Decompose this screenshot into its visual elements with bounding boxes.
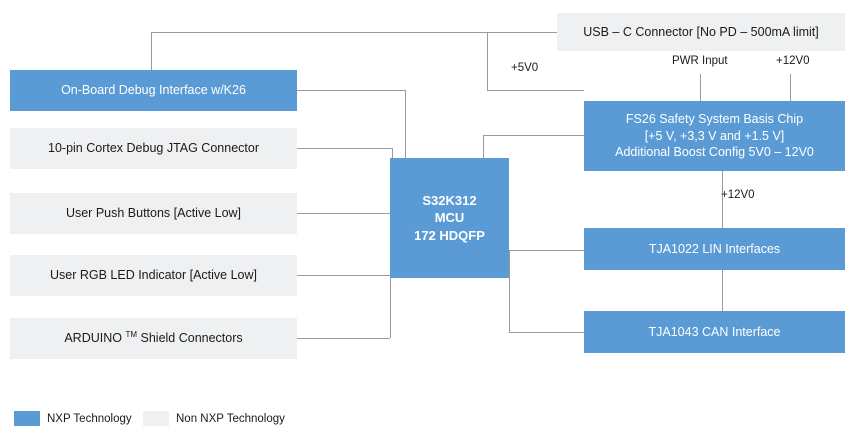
connector-mcu-can-vertical xyxy=(509,250,510,332)
connector-jtag-to-mcu xyxy=(297,148,392,149)
block-mcu-line2: MCU xyxy=(435,209,465,227)
legend-non-nxp-label: Non NXP Technology xyxy=(176,413,285,425)
block-jtag-connector[interactable]: 10-pin Cortex Debug JTAG Connector xyxy=(10,128,297,169)
block-jtag-label: 10-pin Cortex Debug JTAG Connector xyxy=(48,140,259,157)
block-user-rgb-led[interactable]: User RGB LED Indicator [Active Low] xyxy=(10,255,297,296)
block-arduino-label-post: Shield Connectors xyxy=(137,331,243,345)
block-usb-c-connector[interactable]: USB – C Connector [No PD – 500mA limit] xyxy=(557,13,845,51)
block-diagram: +5V0 PWR Input +12V0 +12V0 USB – C Conne… xyxy=(0,0,850,437)
legend-swatch-non-nxp-icon xyxy=(143,411,169,426)
connector-arduino-to-mcu xyxy=(297,338,390,339)
block-usb-c-label: USB – C Connector [No PD – 500mA limit] xyxy=(583,24,819,41)
block-tja1022-lin[interactable]: TJA1022 LIN Interfaces xyxy=(584,228,845,270)
connector-mcu-to-lin xyxy=(509,250,584,251)
block-can-label: TJA1043 CAN Interface xyxy=(648,324,780,341)
edge-label-12v0-top: +12V0 xyxy=(776,55,810,67)
block-user-push-buttons[interactable]: User Push Buttons [Active Low] xyxy=(10,193,297,234)
connector-usb-5v0-vertical xyxy=(487,32,488,90)
block-rgb-led-label: User RGB LED Indicator [Active Low] xyxy=(50,267,257,284)
connector-debug-to-mcu xyxy=(297,90,405,91)
block-debug-interface-label: On-Board Debug Interface w/K26 xyxy=(61,82,246,99)
block-arduino-label-trademark: TM xyxy=(125,330,137,339)
legend-nxp: NXP Technology xyxy=(14,411,132,426)
block-fs26-line3: Additional Boost Config 5V0 – 12V0 xyxy=(615,144,814,161)
block-s32k312-mcu[interactable]: S32K312 MCU 172 HDQFP xyxy=(390,158,509,278)
connector-buttons-to-mcu xyxy=(297,213,390,214)
legend-swatch-nxp-icon xyxy=(14,411,40,426)
legend-non-nxp: Non NXP Technology xyxy=(143,411,285,426)
block-fs26-sbc[interactable]: FS26 Safety System Basis Chip [+5 V, +3,… xyxy=(584,101,845,171)
connector-pwr-input-stub xyxy=(700,74,701,101)
block-fs26-line1: FS26 Safety System Basis Chip xyxy=(626,111,803,128)
legend-nxp-label: NXP Technology xyxy=(47,413,132,425)
connector-led-to-mcu xyxy=(297,275,390,276)
block-arduino-label-pre: ARDUINO xyxy=(64,331,125,345)
block-tja1043-can[interactable]: TJA1043 CAN Interface xyxy=(584,311,845,353)
edge-label-5v0: +5V0 xyxy=(511,62,538,74)
connector-12v0-stub xyxy=(790,74,791,101)
connector-5v0-to-fs26 xyxy=(487,90,584,91)
connector-usb-to-debug-horizontal xyxy=(151,32,557,33)
block-mcu-line3: 172 HDQFP xyxy=(414,227,485,245)
edge-label-pwr-input: PWR Input xyxy=(672,55,728,67)
block-arduino-label: ARDUINO TM Shield Connectors xyxy=(64,330,242,347)
block-fs26-line2: [+5 V, +3,3 V and +1.5 V] xyxy=(645,128,785,145)
block-lin-label: TJA1022 LIN Interfaces xyxy=(649,241,780,258)
connector-lin-to-can-vertical xyxy=(722,270,723,312)
block-push-buttons-label: User Push Buttons [Active Low] xyxy=(66,205,241,222)
edge-label-12v0-mid: +12V0 xyxy=(721,189,755,201)
connector-mcu-to-can xyxy=(509,332,584,333)
block-debug-interface-k26[interactable]: On-Board Debug Interface w/K26 xyxy=(10,70,297,111)
block-arduino-shield-connectors[interactable]: ARDUINO TM Shield Connectors xyxy=(10,318,297,359)
connector-mcu-to-fs26 xyxy=(483,135,584,136)
block-mcu-line1: S32K312 xyxy=(422,192,476,210)
